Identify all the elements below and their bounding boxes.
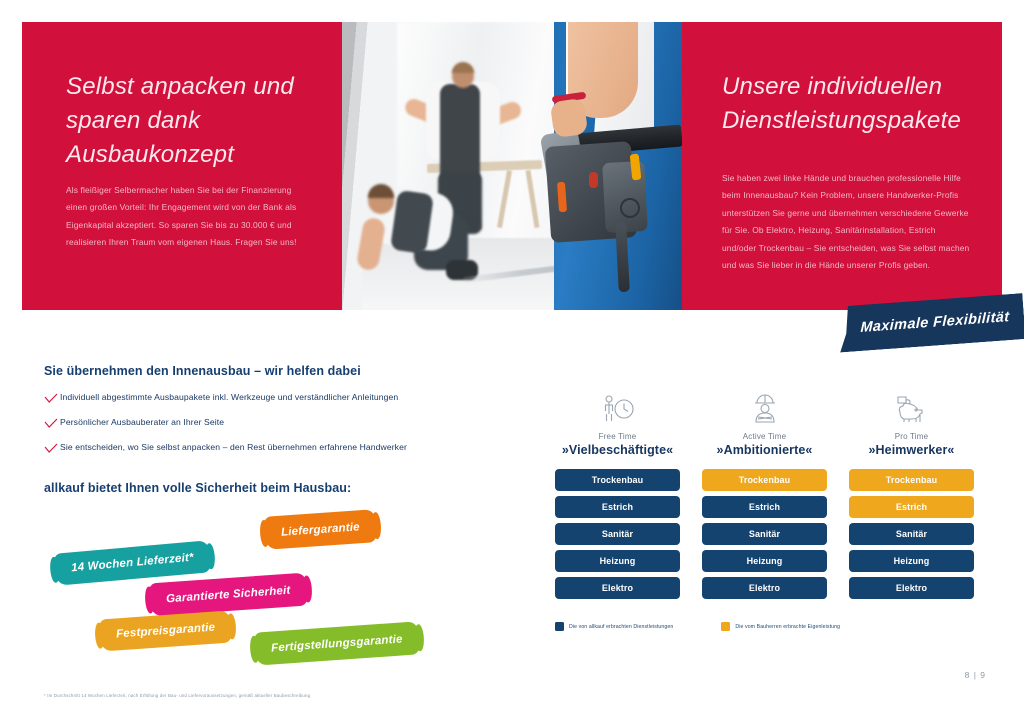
list-item-label: Sie entscheiden, wo Sie selbst anpacken …	[60, 442, 407, 454]
package-heimwerker: Pro Time »Heimwerker« Trockenbau Estrich…	[849, 388, 974, 604]
package-row: Trockenbau	[702, 469, 827, 491]
package-rows: Trockenbau Estrich Sanitär Heizung Elekt…	[702, 469, 827, 599]
package-rows: Trockenbau Estrich Sanitär Heizung Elekt…	[555, 469, 680, 599]
worker-helmet-icon	[702, 388, 827, 430]
hero-photo	[342, 22, 682, 310]
badge-lieferzeit: 14 Wochen Lieferzeit*	[54, 540, 211, 585]
hero-right-panel: Unsere individuellen Dienstleistungspake…	[682, 22, 1002, 310]
check-icon	[44, 393, 60, 404]
photo-foreground-worker-hand	[550, 98, 589, 138]
package-row: Elektro	[555, 577, 680, 599]
brochure-page: Selbst anpacken und sparen dank Ausbauko…	[0, 0, 1024, 725]
legend-swatch-orange	[721, 622, 730, 631]
hero-right-body: Sie haben zwei linke Hände und brauchen …	[722, 170, 972, 274]
package-subtitle: Free Time	[555, 432, 680, 441]
badge-fertigstellungsgarantie: Fertigstellungsgarantie	[254, 621, 420, 665]
legend-item-bauherr: Die vom Bauherren erbrachte Eigenleistun…	[721, 622, 840, 631]
check-icon	[44, 418, 60, 429]
piggy-bank-icon	[849, 388, 974, 430]
packages-legend: Die von allkauf erbrachten Dienstleistun…	[555, 622, 840, 631]
legend-label: Die vom Bauherren erbrachte Eigenleistun…	[735, 624, 840, 630]
photo-tool-red	[589, 172, 598, 188]
package-ambitionierte: Active Time »Ambitionierte« Trockenbau E…	[702, 388, 827, 604]
innenausbau-heading: Sie übernehmen den Innenausbau – wir hel…	[44, 364, 361, 378]
package-subtitle: Pro Time	[849, 432, 974, 441]
hero-section: Selbst anpacken und sparen dank Ausbauko…	[22, 22, 1002, 310]
package-row: Estrich	[555, 496, 680, 518]
sicherheit-heading: allkauf bietet Ihnen volle Sicherheit be…	[44, 481, 351, 495]
legend-label: Die von allkauf erbrachten Dienstleistun…	[569, 624, 673, 630]
package-row: Heizung	[849, 550, 974, 572]
package-rows: Trockenbau Estrich Sanitär Heizung Elekt…	[849, 469, 974, 599]
guarantee-badges: Liefergarantie 14 Wochen Lieferzeit* Gar…	[40, 505, 460, 660]
list-item-label: Individuell abgestimmte Ausbaupakete ink…	[60, 392, 398, 404]
package-row: Trockenbau	[849, 469, 974, 491]
package-row: Heizung	[555, 550, 680, 572]
package-title: »Vielbeschäftigte«	[555, 443, 680, 457]
package-row: Sanitär	[849, 523, 974, 545]
package-row: Elektro	[849, 577, 974, 599]
flag-label: Maximale Flexibilität	[860, 309, 1010, 336]
photo-tool-ring	[620, 198, 640, 218]
list-item-label: Persönlicher Ausbauberater an Ihrer Seit…	[60, 417, 224, 429]
badge-liefergarantie: Liefergarantie	[264, 509, 377, 550]
package-row: Sanitär	[702, 523, 827, 545]
photo-tool-pouch-front	[602, 161, 648, 233]
hero-left-panel: Selbst anpacken und sparen dank Ausbauko…	[22, 22, 342, 310]
badge-festpreisgarantie: Festpreisgarantie	[99, 610, 232, 651]
package-title: »Heimwerker«	[849, 443, 974, 457]
list-item: Persönlicher Ausbauberater an Ihrer Seit…	[44, 417, 514, 429]
package-row: Elektro	[702, 577, 827, 599]
person-clock-icon	[555, 388, 680, 430]
hero-left-title: Selbst anpacken und sparen dank Ausbauko…	[66, 70, 316, 172]
package-subtitle: Active Time	[702, 432, 827, 441]
package-row: Trockenbau	[555, 469, 680, 491]
package-row: Heizung	[702, 550, 827, 572]
hero-right-title: Unsere individuellen Dienstleistungspake…	[722, 70, 982, 138]
list-item: Individuell abgestimmte Ausbaupakete ink…	[44, 392, 514, 404]
package-vielbeschaeftigte: Free Time »Vielbeschäftigte« Trockenbau …	[555, 388, 680, 604]
list-item: Sie entscheiden, wo Sie selbst anpacken …	[44, 442, 514, 454]
benefits-list: Individuell abgestimmte Ausbaupakete ink…	[44, 392, 514, 467]
package-title: »Ambitionierte«	[702, 443, 827, 457]
legend-item-allkauf: Die von allkauf erbrachten Dienstleistun…	[555, 622, 673, 631]
footnote: * Im Durchschnitt 14 Wochen Lieferzeit, …	[44, 693, 310, 698]
page-number: 8 | 9	[965, 670, 986, 680]
package-row: Estrich	[702, 496, 827, 518]
package-row: Estrich	[849, 496, 974, 518]
badge-garantierte-sicherheit: Garantierte Sicherheit	[149, 573, 307, 617]
package-row: Sanitär	[555, 523, 680, 545]
legend-swatch-blue	[555, 622, 564, 631]
hero-left-body: Als fleißiger Selbermacher haben Sie bei…	[66, 182, 311, 252]
service-packages: Free Time »Vielbeschäftigte« Trockenbau …	[555, 388, 975, 604]
check-icon	[44, 443, 60, 454]
